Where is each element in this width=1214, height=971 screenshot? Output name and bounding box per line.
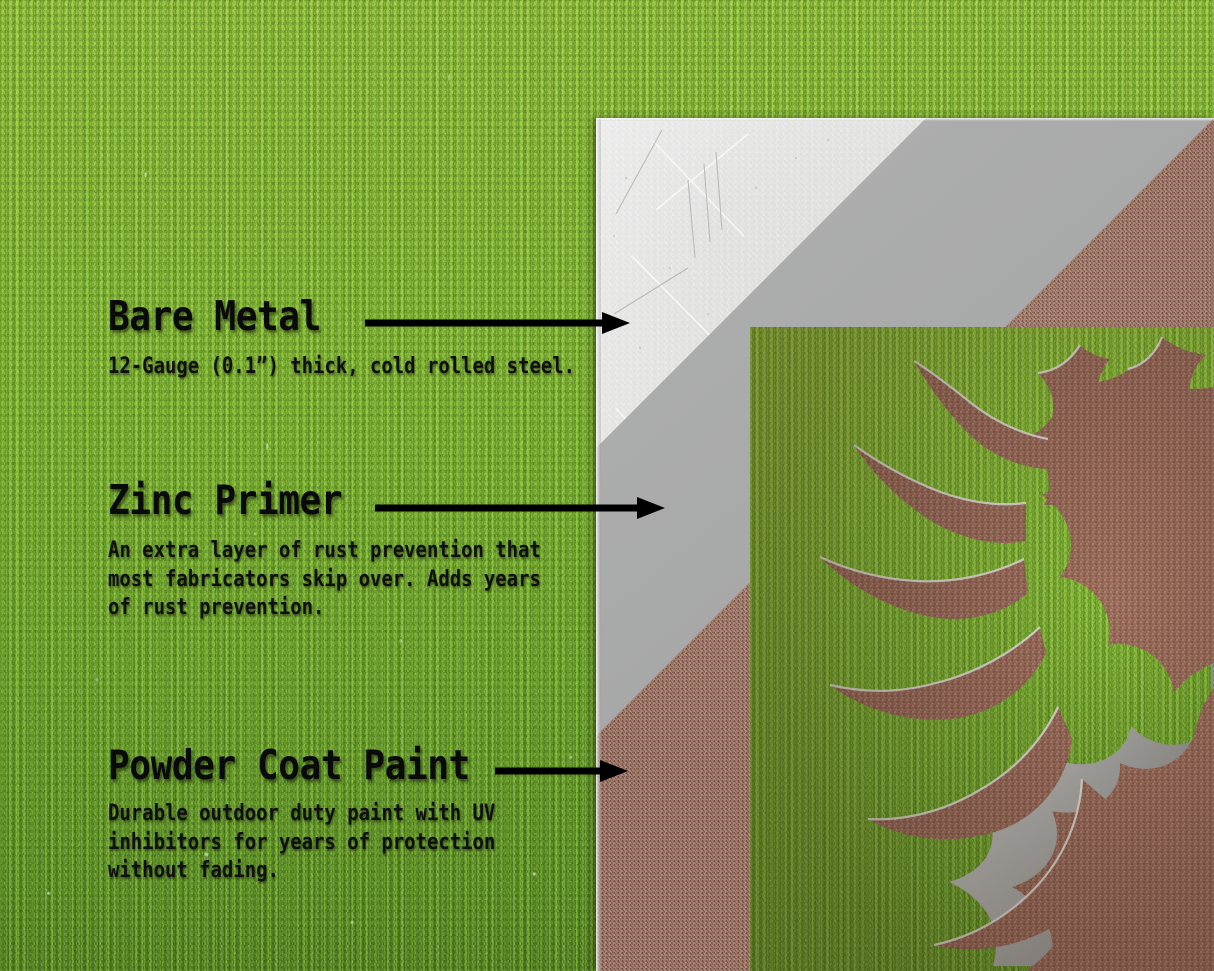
arrow-right-icon [375, 495, 665, 521]
description-line: without fading. [108, 857, 495, 886]
diagram-canvas: Bare Metal 12-Gauge (0.1”) thick, cold r… [0, 0, 1214, 971]
callout-powder-coat: Powder Coat Paint Durable outdoor duty p… [108, 745, 558, 886]
description-line: inhibitors for years of protection [108, 829, 495, 858]
arrow-to-bare-metal [365, 310, 630, 336]
sunburst-art-window [750, 327, 1214, 971]
description-line: of rust prevention. [108, 594, 541, 623]
arrow-to-zinc-primer [375, 495, 665, 521]
callout-description: An extra layer of rust prevention that m… [108, 537, 541, 623]
description-line: most fabricators skip over. Adds years [108, 566, 541, 595]
callout-heading: Powder Coat Paint [108, 745, 504, 786]
arrow-right-icon [495, 758, 628, 784]
description-line: An extra layer of rust prevention that [108, 537, 541, 566]
callout-description: Durable outdoor duty paint with UV inhib… [108, 800, 495, 886]
arrow-right-icon [365, 310, 630, 336]
arrow-to-powder-coat [495, 758, 628, 784]
callout-description: 12-Gauge (0.1”) thick, cold rolled steel… [108, 353, 575, 382]
callout-bare-metal: Bare Metal 12-Gauge (0.1”) thick, cold r… [108, 296, 651, 382]
panel-top-edge [596, 118, 1214, 121]
sunburst-metal-art [750, 327, 1214, 971]
description-line: Durable outdoor duty paint with UV [108, 800, 495, 829]
